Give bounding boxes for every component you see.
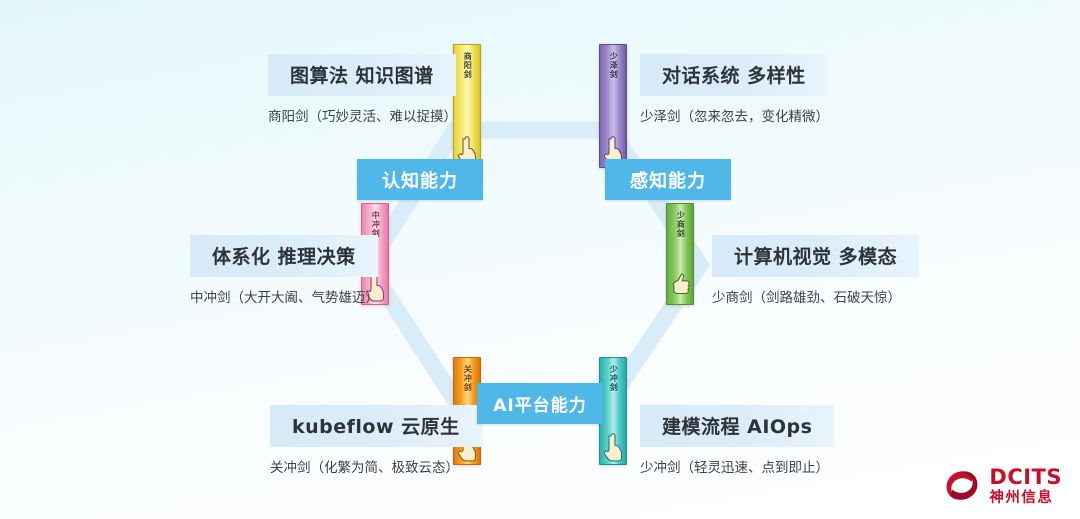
node-title: 体系化 推理决策 <box>212 246 356 268</box>
node-kubeflow-cloudnative[interactable]: kubeflow 云原生 关冲剑（化繁为简、极致云态） <box>270 405 482 476</box>
node-subtitle: 中冲剑（大开大阖、气势雄迈） <box>190 286 379 306</box>
capability-chip-label: AI平台能力 <box>493 391 586 416</box>
node-knowledge-graph[interactable]: 图算法 知识图谱 商阳剑（巧妙灵活、难以捉摸） <box>268 54 457 125</box>
logo-cn-text: 神州信息 <box>989 491 1062 506</box>
node-title: kubeflow 云原生 <box>292 416 460 438</box>
sword-pillar-shaoshang[interactable]: 少商剑 <box>666 203 694 305</box>
node-dialogue-system[interactable]: 对话系统 多样性 少泽剑（忽来忽去，变化精微） <box>640 54 829 125</box>
node-title: 计算机视觉 多模态 <box>734 246 897 268</box>
sword-name-label: 中冲剑 <box>371 211 379 238</box>
thumbs-up-icon <box>669 272 691 302</box>
dcits-logo: DCITS 神州信息 <box>942 467 1062 506</box>
dcits-swirl-icon <box>942 467 982 505</box>
sword-name-label: 少冲剑 <box>609 365 617 392</box>
sword-name-label: 少商剑 <box>676 211 684 238</box>
logo-en-text: DCITS <box>989 467 1062 488</box>
node-title: 图算法 知识图谱 <box>290 65 434 87</box>
node-title: 建模流程 AIOps <box>662 416 812 438</box>
node-modeling-aiops[interactable]: 建模流程 AIOps 少冲剑（轻灵迅速、点到即止） <box>640 405 834 476</box>
node-title-band: 对话系统 多样性 <box>640 54 828 96</box>
node-title-band: 建模流程 AIOps <box>640 405 834 447</box>
pointing-hand-icon <box>602 432 624 462</box>
sword-pillar-shaoze[interactable]: 少泽剑 <box>599 44 627 168</box>
node-title-band: 图算法 知识图谱 <box>268 54 456 96</box>
node-title-band: 计算机视觉 多模态 <box>712 235 919 277</box>
diagram-canvas: 图算法 知识图谱 商阳剑（巧妙灵活、难以捉摸） 商阳剑 对话系统 多样性 少泽剑… <box>0 0 1080 519</box>
node-reasoning-decision[interactable]: 体系化 推理决策 中冲剑（大开大阖、气势雄迈） <box>190 235 379 306</box>
sword-name-label: 商阳剑 <box>463 52 471 79</box>
logo-wordmark: DCITS 神州信息 <box>989 467 1062 506</box>
node-title: 对话系统 多样性 <box>662 65 806 87</box>
node-subtitle: 关冲剑（化繁为简、极致云态） <box>270 456 482 476</box>
node-title-band: kubeflow 云原生 <box>270 405 482 447</box>
node-subtitle: 少商剑（剑路雄劲、石破天惊） <box>712 286 919 306</box>
sword-name-label: 关冲剑 <box>463 365 471 392</box>
capability-chip-cognitive[interactable]: 认知能力 <box>357 159 483 200</box>
capability-chip-label: 认知能力 <box>382 167 458 193</box>
node-subtitle: 少泽剑（忽来忽去，变化精微） <box>640 105 829 125</box>
sword-name-label: 少泽剑 <box>609 52 617 79</box>
capability-chip-label: 感知能力 <box>630 167 706 193</box>
node-title-band: 体系化 推理决策 <box>190 235 378 277</box>
node-computer-vision[interactable]: 计算机视觉 多模态 少商剑（剑路雄劲、石破天惊） <box>712 235 919 306</box>
sword-pillar-shangyang[interactable]: 商阳剑 <box>453 44 481 168</box>
capability-chip-ai-platform[interactable]: AI平台能力 <box>477 383 603 424</box>
sword-pillar-shaochong[interactable]: 少冲剑 <box>599 357 627 465</box>
capability-chip-perception[interactable]: 感知能力 <box>605 159 731 200</box>
node-subtitle: 商阳剑（巧妙灵活、难以捉摸） <box>268 105 457 125</box>
node-subtitle: 少冲剑（轻灵迅速、点到即止） <box>640 456 834 476</box>
